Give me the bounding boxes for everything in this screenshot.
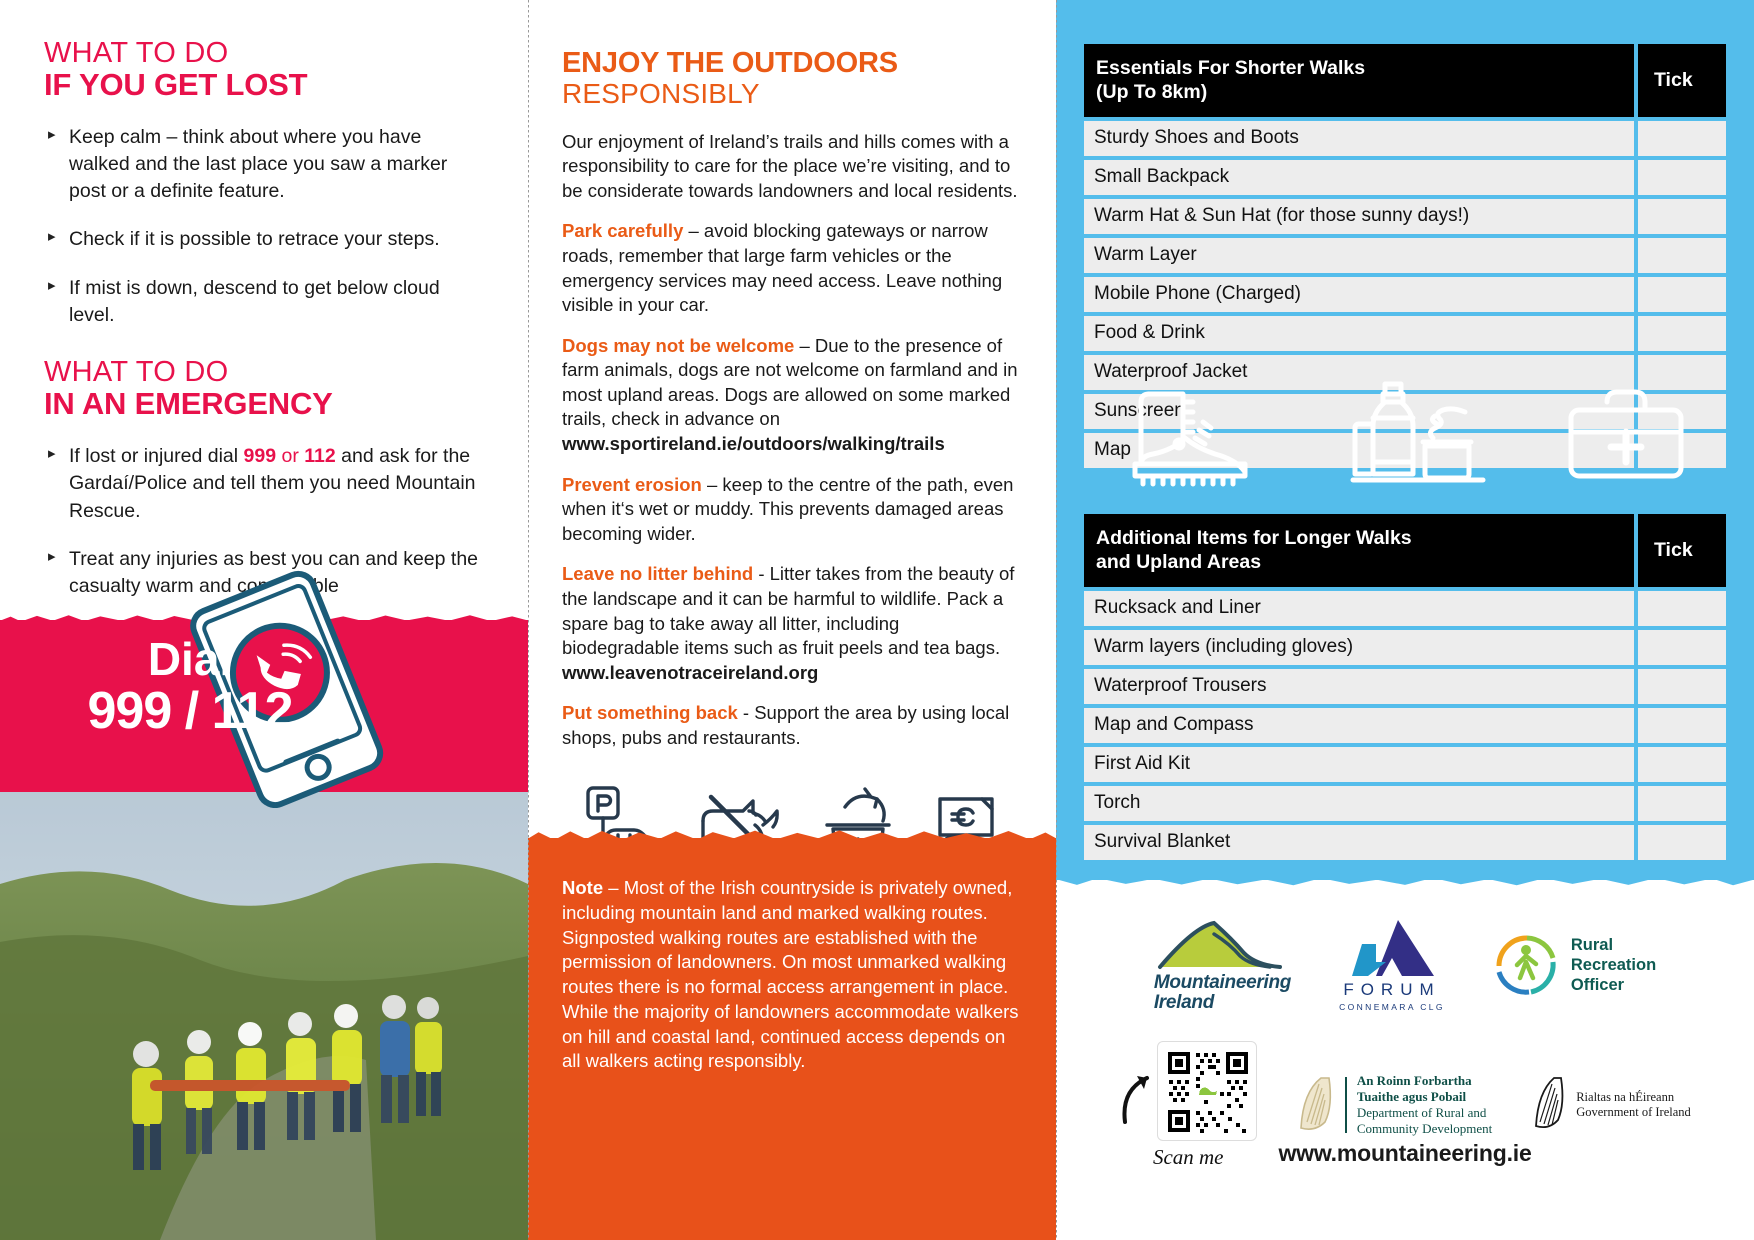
table-row: Warm layers (including gloves) — [1084, 630, 1726, 665]
logo-name-line-1: Rural — [1571, 935, 1656, 955]
gov-line-1: Rialtas na hÉireann — [1576, 1090, 1691, 1106]
gov-line-2: Government of Ireland — [1576, 1105, 1691, 1121]
emergency-number-112: 112 — [304, 445, 335, 467]
tick-checkbox[interactable] — [1638, 160, 1726, 195]
tick-checkbox[interactable] — [1638, 825, 1726, 860]
tip-label: Dogs may not be welcome — [562, 335, 794, 356]
header-line-2: and Upland Areas — [1096, 551, 1261, 573]
tip-label: Prevent erosion — [562, 474, 702, 495]
list-item: If lost or injured dial 999 or 112 and a… — [44, 443, 486, 525]
tip-put-something-back: Put something back - Support the area by… — [562, 701, 1020, 750]
sportireland-link[interactable]: www.sportireland.ie/outdoors/walking/tra… — [562, 433, 945, 454]
header-line-1: Essentials For Shorter Walks — [1096, 57, 1365, 79]
table-row: First Aid Kit — [1084, 747, 1726, 782]
mountaineering-ireland-logo: Mountaineering Ireland — [1154, 917, 1291, 1013]
item-label: Waterproof Trousers — [1084, 669, 1634, 704]
tip-erosion: Prevent erosion – keep to the centre of … — [562, 473, 1020, 547]
lost-heading-bold: IF YOU GET LOST — [44, 69, 486, 102]
dial-text: Dial 999 / 112 — [60, 636, 320, 738]
emergency-heading-bold: IN AN EMERGENCY — [44, 388, 486, 421]
column-divider-right — [1056, 0, 1057, 1240]
list-item: If mist is down, descend to get below cl… — [44, 275, 486, 330]
table-row: Small Backpack — [1084, 160, 1726, 195]
logo-name-line-2: Ireland — [1154, 993, 1214, 1013]
government-of-ireland-logo: Rialtas na hÉireann Government of Irelan… — [1526, 1074, 1691, 1136]
note-text: Note – Most of the Irish countryside is … — [528, 838, 1056, 1074]
item-label: Sturdy Shoes and Boots — [1084, 121, 1634, 156]
item-label: Mobile Phone (Charged) — [1084, 277, 1634, 312]
item-label: Food & Drink — [1084, 316, 1634, 351]
tip-label: Park carefully — [562, 220, 683, 241]
item-label: Warm layers (including gloves) — [1084, 630, 1634, 665]
tip-label: Leave no litter behind — [562, 563, 753, 584]
table-row: Warm Layer — [1084, 238, 1726, 273]
table-header-tick: Tick — [1638, 514, 1726, 587]
table-header-tick: Tick — [1638, 44, 1726, 117]
tip-label: Put something back — [562, 702, 738, 723]
tick-checkbox[interactable] — [1638, 786, 1726, 821]
header-line-2: (Up To 8km) — [1096, 81, 1207, 103]
column-enjoy-outdoors: ENJOY THE OUTDOORS RESPONSIBLY Our enjoy… — [528, 0, 1056, 1240]
table-row: Map and Compass — [1084, 708, 1726, 743]
list-item: Check if it is possible to retrace your … — [44, 226, 486, 253]
emergency-heading-light: WHAT TO DO — [44, 357, 486, 388]
harp-icon — [1526, 1074, 1566, 1136]
bullet-text-or: or — [276, 445, 304, 467]
tick-checkbox[interactable] — [1638, 121, 1726, 156]
leavenotrace-link[interactable]: www.leavenotraceireland.org — [562, 662, 818, 683]
rro-emblem-icon — [1493, 932, 1559, 998]
column-what-to-do: WHAT TO DO IF YOU GET LOST Keep calm – t… — [0, 0, 528, 1240]
dial-numbers: 999 / 112 — [60, 684, 320, 738]
emergency-number-999: 999 — [244, 445, 277, 467]
dial-banner: Dial 999 / 112 — [0, 620, 528, 792]
rural-recreation-officer-logo: Rural Recreation Officer — [1493, 932, 1656, 998]
item-label: Rucksack and Liner — [1084, 591, 1634, 626]
lost-bullet-list: Keep calm – think about where you have w… — [44, 124, 486, 330]
table-row: Rucksack and Liner — [1084, 591, 1726, 626]
note-body: – Most of the Irish countryside is priva… — [562, 877, 1019, 1071]
table-row: Food & Drink — [1084, 316, 1726, 351]
mountaineering-website-url[interactable]: www.mountaineering.ie — [1056, 1140, 1754, 1167]
lost-heading-light: WHAT TO DO — [44, 38, 486, 69]
tick-checkbox[interactable] — [1638, 708, 1726, 743]
logo-name-line-1: Mountaineering — [1154, 973, 1291, 993]
logo-name-line-2: Recreation — [1571, 955, 1656, 975]
bullet-text-pre: If lost or injured dial — [69, 445, 244, 467]
note-banner: Note – Most of the Irish countryside is … — [528, 838, 1056, 1240]
tick-checkbox[interactable] — [1638, 669, 1726, 704]
tick-checkbox[interactable] — [1638, 591, 1726, 626]
table-row: Waterproof Trousers — [1084, 669, 1726, 704]
table-row: Mobile Phone (Charged) — [1084, 277, 1726, 312]
table-row: Sturdy Shoes and Boots — [1084, 121, 1726, 156]
table-header-essentials: Essentials For Shorter Walks (Up To 8km) — [1084, 44, 1634, 117]
tip-park-carefully: Park carefully – avoid blocking gateways… — [562, 219, 1020, 317]
tick-checkbox[interactable] — [1638, 238, 1726, 273]
mountain-graphic-icon — [1154, 917, 1286, 973]
item-label: Warm Layer — [1084, 238, 1634, 273]
tip-litter: Leave no litter behind - Litter takes fr… — [562, 562, 1020, 685]
dept-line-1: An Roinn Forbartha — [1357, 1073, 1472, 1088]
first-aid-kit-icon — [1561, 380, 1691, 495]
tip-dogs: Dogs may not be welcome – Due to the pre… — [562, 334, 1020, 457]
tick-checkbox[interactable] — [1638, 316, 1726, 351]
logo-name-line-3: Officer — [1571, 975, 1656, 995]
item-label: First Aid Kit — [1084, 747, 1634, 782]
logo-name: FORUM — [1343, 980, 1440, 1000]
column-divider-left — [528, 0, 529, 1240]
outdoors-heading-bold: ENJOY THE OUTDOORS — [562, 48, 1020, 79]
brochure-page: WHAT TO DO IF YOU GET LOST Keep calm – t… — [0, 0, 1754, 1240]
qr-code-icon[interactable] — [1157, 1041, 1257, 1141]
table-header-additional: Additional Items for Longer Walks and Up… — [1084, 514, 1634, 587]
tick-checkbox[interactable] — [1638, 199, 1726, 234]
harp-icon — [1291, 1072, 1335, 1138]
additional-items-table: Additional Items for Longer Walks and Up… — [1084, 510, 1726, 864]
note-label: Note — [562, 877, 603, 898]
outdoors-intro: Our enjoyment of Ireland’s trails and hi… — [562, 130, 1020, 204]
item-label: Map and Compass — [1084, 708, 1634, 743]
department-logo: An Roinn Forbartha Tuaithe agus Pobail D… — [1291, 1072, 1492, 1138]
header-line-1: Additional Items for Longer Walks — [1096, 527, 1412, 549]
forum-triangle-icon — [1346, 918, 1438, 980]
flask-and-cup-icon — [1341, 380, 1491, 495]
dept-line-3: Department of Rural and — [1357, 1105, 1492, 1121]
dept-line-2: Tuaithe agus Pobail — [1357, 1089, 1466, 1104]
tick-checkbox[interactable] — [1638, 747, 1726, 782]
list-item: Keep calm – think about where you have w… — [44, 124, 486, 206]
logo-subtitle: CONNEMARA CLG — [1339, 1002, 1445, 1012]
item-label: Warm Hat & Sun Hat (for those sunny days… — [1084, 199, 1634, 234]
outdoors-heading-light: RESPONSIBLY — [562, 79, 1020, 110]
walking-boot-icon — [1121, 380, 1271, 495]
table-row: Warm Hat & Sun Hat (for those sunny days… — [1084, 199, 1726, 234]
table-row: Survival Blanket — [1084, 825, 1726, 860]
partner-logos-row: Mountaineering Ireland FORUM CONNEMARA C… — [1056, 900, 1754, 1030]
tick-checkbox[interactable] — [1638, 277, 1726, 312]
table-row: Torch — [1084, 786, 1726, 821]
column-checklists: Essentials For Shorter Walks (Up To 8km)… — [1056, 0, 1754, 1240]
tick-checkbox[interactable] — [1638, 630, 1726, 665]
item-label: Survival Blanket — [1084, 825, 1634, 860]
item-label: Torch — [1084, 786, 1634, 821]
rescue-team-photo — [0, 792, 528, 1240]
curved-arrow-icon — [1119, 1056, 1153, 1126]
dept-line-4: Community Development — [1357, 1121, 1492, 1137]
forum-connemara-logo: FORUM CONNEMARA CLG — [1339, 918, 1445, 1012]
dial-label: Dial — [60, 636, 320, 684]
item-label: Small Backpack — [1084, 160, 1634, 195]
kit-icon-row — [1086, 372, 1726, 502]
